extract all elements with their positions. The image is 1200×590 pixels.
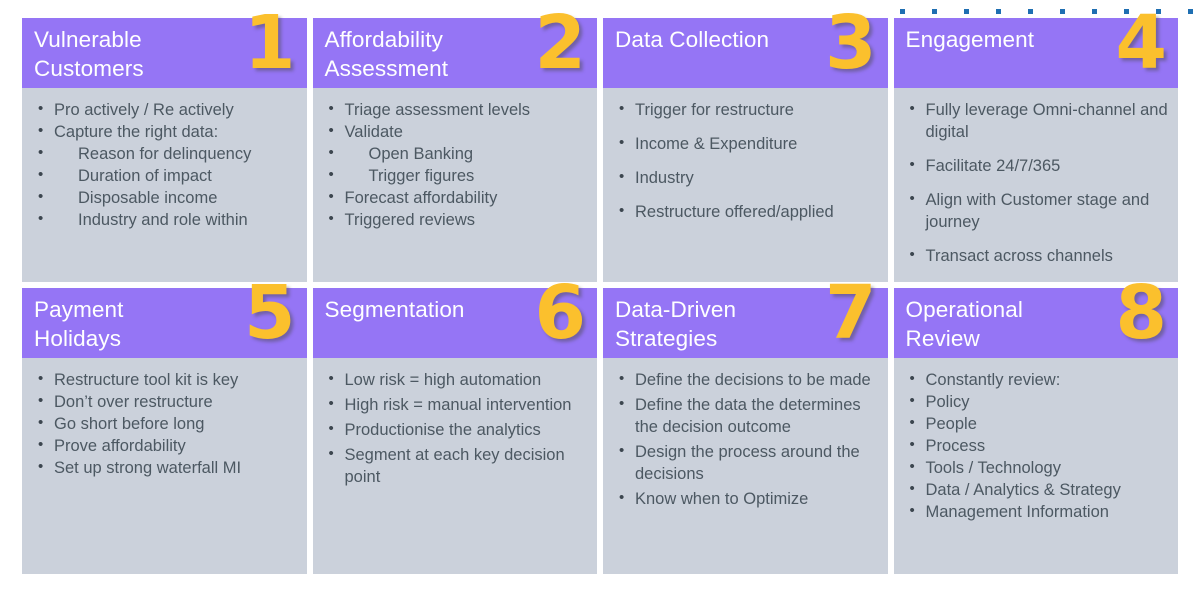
bullet-item: Productionise the analytics xyxy=(323,419,590,441)
decorative-dot xyxy=(1060,9,1065,14)
card-step-number: 2 xyxy=(535,6,586,80)
card-6: Segmentation6Low risk = high automationH… xyxy=(313,288,598,574)
bullet-list: Triage assessment levelsValidateOpen Ban… xyxy=(323,99,590,231)
bullet-item: Go short before long xyxy=(32,413,299,435)
bullet-item: Triggered reviews xyxy=(323,209,590,231)
card-5: Payment Holidays5Restructure tool kit is… xyxy=(22,288,307,574)
bullet-item: Industry and role within xyxy=(32,209,299,231)
decorative-dot xyxy=(1092,9,1097,14)
bullet-item: Low risk = high automation xyxy=(323,369,590,391)
bullet-item: Restructure tool kit is key xyxy=(32,369,299,391)
card-header: Engagement4 xyxy=(894,18,1179,88)
bullet-item: People xyxy=(904,413,1171,435)
decorative-dot xyxy=(996,9,1001,14)
bullet-item: Industry xyxy=(613,167,880,189)
card-title: Operational Review xyxy=(906,295,1023,353)
bullet-item: Know when to Optimize xyxy=(613,488,880,510)
infographic-canvas: Vulnerable Customers1Pro actively / Re a… xyxy=(0,0,1200,590)
card-header: Data-Driven Strategies7 xyxy=(603,288,888,358)
bullet-list: Trigger for restructureIncome & Expendit… xyxy=(613,99,880,223)
bullet-item: Process xyxy=(904,435,1171,457)
bullet-item: Design the process around the decisions xyxy=(613,441,880,485)
card-step-number: 7 xyxy=(825,276,876,350)
card-7: Data-Driven Strategies7Define the decisi… xyxy=(603,288,888,574)
bullet-item: Tools / Technology xyxy=(904,457,1171,479)
card-header: Operational Review8 xyxy=(894,288,1179,358)
card-body: Restructure tool kit is keyDon’t over re… xyxy=(22,358,307,574)
card-title: Engagement xyxy=(906,25,1035,54)
decorative-dot xyxy=(964,9,969,14)
bullet-item: Facilitate 24/7/365 xyxy=(904,155,1171,177)
bullet-item: Income & Expenditure xyxy=(613,133,880,155)
bullet-list: Low risk = high automationHigh risk = ma… xyxy=(323,369,590,488)
card-step-number: 3 xyxy=(825,6,876,80)
bullet-item: Don’t over restructure xyxy=(32,391,299,413)
decorative-dot xyxy=(1188,9,1193,14)
bullet-list: Fully leverage Omni-channel and digitalF… xyxy=(904,99,1171,267)
decorative-dot xyxy=(1028,9,1033,14)
bullet-item: Define the data the determines the decis… xyxy=(613,394,880,438)
bullet-list: Define the decisions to be madeDefine th… xyxy=(613,369,880,510)
card-title: Payment Holidays xyxy=(34,295,124,353)
bullet-item: Forecast affordability xyxy=(323,187,590,209)
bullet-item: Trigger for restructure xyxy=(613,99,880,121)
bullet-item: Align with Customer stage and journey xyxy=(904,189,1171,233)
card-header: Segmentation6 xyxy=(313,288,598,358)
bullet-item: Constantly review: xyxy=(904,369,1171,391)
bullet-item: Capture the right data: xyxy=(32,121,299,143)
card-body: Fully leverage Omni-channel and digitalF… xyxy=(894,88,1179,282)
card-3: Data Collection3Trigger for restructureI… xyxy=(603,18,888,282)
card-body: Define the decisions to be madeDefine th… xyxy=(603,358,888,574)
bullet-item: Reason for delinquency xyxy=(32,143,299,165)
bullet-item: Open Banking xyxy=(323,143,590,165)
card-body: Pro actively / Re activelyCapture the ri… xyxy=(22,88,307,282)
card-1: Vulnerable Customers1Pro actively / Re a… xyxy=(22,18,307,282)
bullet-item: Trigger figures xyxy=(323,165,590,187)
bullet-item: Disposable income xyxy=(32,187,299,209)
bullet-item: Policy xyxy=(904,391,1171,413)
card-body: Triage assessment levelsValidateOpen Ban… xyxy=(313,88,598,282)
decorative-dot xyxy=(900,9,905,14)
bullet-item: Management Information xyxy=(904,501,1171,523)
card-step-number: 5 xyxy=(244,276,295,350)
bullet-list: Restructure tool kit is keyDon’t over re… xyxy=(32,369,299,479)
card-body: Constantly review:PolicyPeopleProcessToo… xyxy=(894,358,1179,574)
decorative-dot xyxy=(932,9,937,14)
card-header: Data Collection3 xyxy=(603,18,888,88)
card-step-number: 8 xyxy=(1116,276,1167,350)
bullet-item: Validate xyxy=(323,121,590,143)
bullet-item: Segment at each key decision point xyxy=(323,444,590,488)
card-title: Data-Driven Strategies xyxy=(615,295,736,353)
bullet-list: Constantly review:PolicyPeopleProcessToo… xyxy=(904,369,1171,523)
card-body: Low risk = high automationHigh risk = ma… xyxy=(313,358,598,574)
bullet-item: Set up strong waterfall MI xyxy=(32,457,299,479)
card-step-number: 1 xyxy=(244,6,295,80)
bullet-item: Data / Analytics & Strategy xyxy=(904,479,1171,501)
bullet-list: Pro actively / Re activelyCapture the ri… xyxy=(32,99,299,231)
card-title: Segmentation xyxy=(325,295,465,324)
card-step-number: 4 xyxy=(1116,6,1167,80)
card-2: Affordability Assessment2Triage assessme… xyxy=(313,18,598,282)
bullet-item: Transact across channels xyxy=(904,245,1171,267)
bullet-item: Restructure offered/applied xyxy=(613,201,880,223)
card-header: Affordability Assessment2 xyxy=(313,18,598,88)
card-header: Payment Holidays5 xyxy=(22,288,307,358)
bullet-item: Prove affordability xyxy=(32,435,299,457)
bullet-item: High risk = manual intervention xyxy=(323,394,590,416)
card-header: Vulnerable Customers1 xyxy=(22,18,307,88)
card-step-number: 6 xyxy=(535,276,586,350)
bullet-item: Fully leverage Omni-channel and digital xyxy=(904,99,1171,143)
bullet-item: Pro actively / Re actively xyxy=(32,99,299,121)
card-4: Engagement4Fully leverage Omni-channel a… xyxy=(894,18,1179,282)
card-title: Vulnerable Customers xyxy=(34,25,144,83)
bullet-item: Define the decisions to be made xyxy=(613,369,880,391)
bullet-item: Duration of impact xyxy=(32,165,299,187)
card-title: Affordability Assessment xyxy=(325,25,449,83)
card-8: Operational Review8Constantly review:Pol… xyxy=(894,288,1179,574)
card-title: Data Collection xyxy=(615,25,769,54)
card-body: Trigger for restructureIncome & Expendit… xyxy=(603,88,888,282)
card-grid: Vulnerable Customers1Pro actively / Re a… xyxy=(22,18,1178,574)
bullet-item: Triage assessment levels xyxy=(323,99,590,121)
